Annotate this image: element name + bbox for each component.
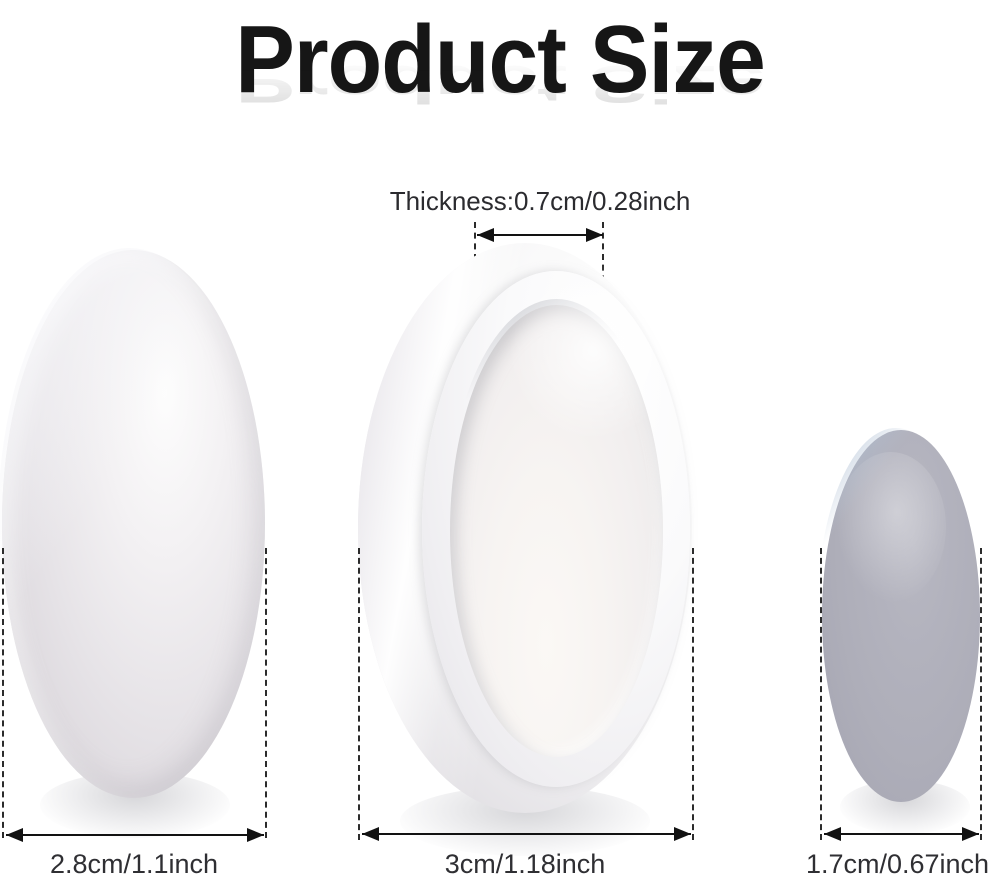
center-dimension-line <box>362 833 691 835</box>
right-dimension-label: 1.7cm/0.67inch <box>790 849 1000 880</box>
center-arrow-left-icon <box>362 827 379 841</box>
right-arrow-right-icon <box>962 827 979 841</box>
left-pad-rim-highlight <box>0 248 261 796</box>
product-size-infographic: Product Size Product Size Thickness:0.7c… <box>0 0 1000 885</box>
thickness-label: Thickness:0.7cm/0.28inch <box>330 186 750 217</box>
page-title: Product Size <box>35 8 965 112</box>
center-dimension-label: 3cm/1.18inch <box>355 849 695 880</box>
center-guide-end <box>692 548 694 840</box>
left-guide-start <box>2 548 4 838</box>
left-dimension-label: 2.8cm/1.1inch <box>0 849 268 880</box>
center-puck-body <box>358 243 692 813</box>
right-plate-body <box>822 430 980 802</box>
left-guide-end <box>265 548 267 838</box>
right-dimension-line <box>824 833 979 835</box>
right-guide-start <box>820 548 822 840</box>
right-guide-end <box>980 548 982 840</box>
center-arrow-right-icon <box>674 827 691 841</box>
title-block: Product Size Product Size <box>0 8 1000 158</box>
left-arrow-right-icon <box>247 828 264 842</box>
left-dimension-line <box>6 834 264 836</box>
center-guide-start <box>358 548 360 840</box>
thickness-arrow-left-icon <box>477 228 494 242</box>
left-pad-body <box>2 250 265 798</box>
left-arrow-left-icon <box>6 828 23 842</box>
right-arrow-left-icon <box>824 827 841 841</box>
center-puck-inner-face <box>450 305 663 757</box>
thickness-dimension-line <box>477 234 603 236</box>
thickness-arrow-right-icon <box>586 228 603 242</box>
